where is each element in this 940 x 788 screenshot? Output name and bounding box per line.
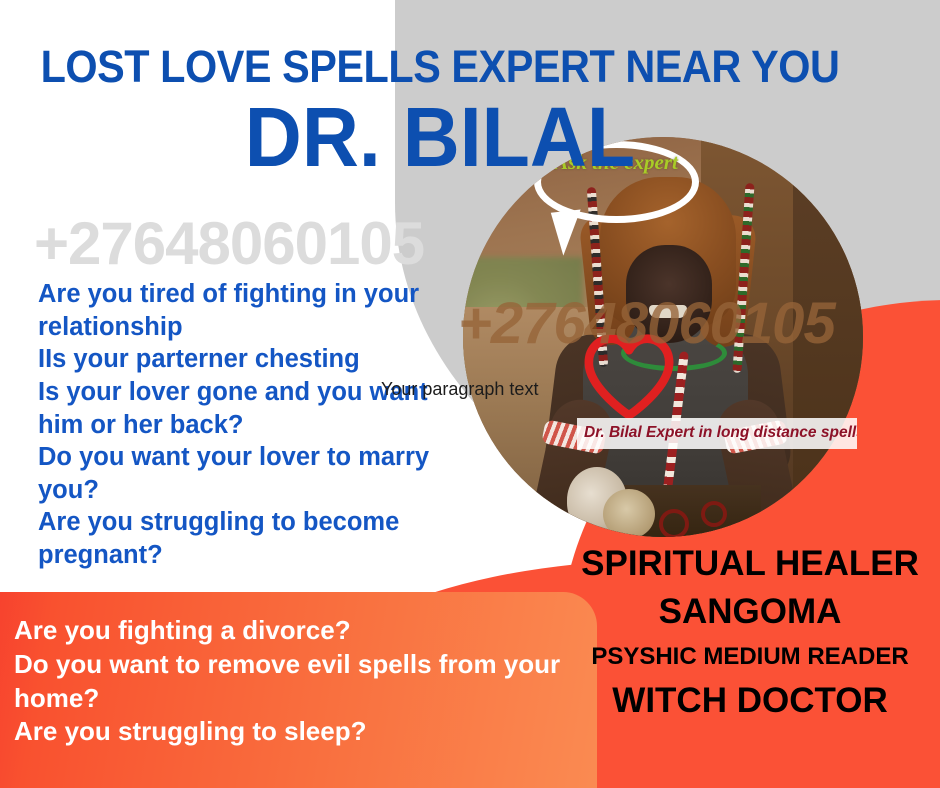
orange-panel-text: Are you fighting a divorce? Do you want …	[14, 614, 574, 749]
photo-wall-dark	[793, 137, 863, 537]
healer-photo: Ask the expert	[463, 137, 863, 537]
service-psychic-medium-reader: PSYSHIC MEDIUM READER	[560, 643, 940, 672]
service-witch-doctor: WITCH DOCTOR	[560, 680, 940, 722]
list-item: Are you struggling to become pregnant?	[38, 506, 468, 571]
service-sangoma: SANGOMA	[560, 591, 940, 633]
list-item: Are you fighting a divorce?	[14, 614, 574, 648]
list-item: Are you tired of fighting in your relati…	[38, 278, 468, 343]
phone-number-large: +27648060105	[34, 214, 424, 274]
poster-canvas: Ask the expert +27648060105 Dr. Bilal Ex…	[0, 0, 940, 788]
list-item: IIs your parterner chesting	[38, 343, 468, 376]
photo-gourd-secondary	[603, 489, 655, 537]
photo-face	[626, 245, 712, 343]
photo-smile	[649, 305, 687, 318]
photo-caption: Dr. Bilal Expert in long distance spells…	[577, 418, 857, 449]
list-item: Do you want to remove evil spells from y…	[14, 648, 574, 716]
heart-outline-icon	[581, 333, 677, 421]
services-list: SPIRITUAL HEALER SANGOMA PSYSHIC MEDIUM …	[560, 544, 940, 722]
paragraph-placeholder-text: Your paragraph text	[381, 379, 538, 400]
practitioner-name: DR. BILAL	[26, 97, 853, 178]
headline-block: LOST LOVE SPELLS EXPERT NEAR YOU DR. BIL…	[0, 44, 880, 178]
service-spiritual-healer: SPIRITUAL HEALER	[560, 544, 940, 583]
photo-garment-ring-2	[701, 501, 727, 527]
photo-garment-ring-1	[659, 509, 689, 537]
question-list: Are you tired of fighting in your relati…	[38, 278, 468, 572]
list-item: Do you want your lover to marry you?	[38, 441, 468, 506]
list-item: Are you struggling to sleep?	[14, 715, 574, 749]
page-title: LOST LOVE SPELLS EXPERT NEAR YOU	[35, 44, 845, 89]
